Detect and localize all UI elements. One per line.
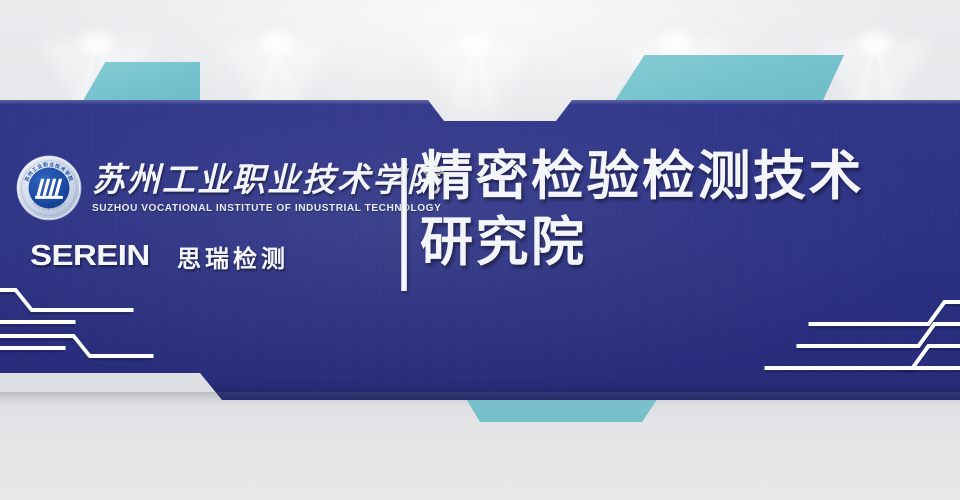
institute-title-line-2: 研究院 [420, 210, 950, 276]
university-emblem-icon: 苏州工业职业技术学院 SUZHOU INSTITUTE [16, 155, 82, 221]
institute-title-block: 精密检验检测技术 研究院 [420, 144, 950, 276]
partner-brand-cn: 思瑞检测 [177, 239, 289, 274]
partner-brand-row: SEREIN 思瑞检测 [16, 239, 394, 274]
logo-block: 苏州工业职业技术学院 SUZHOU INSTITUTE [16, 155, 394, 274]
vertical-divider [401, 158, 407, 291]
university-name-block: 苏州工业职业技术学院 SUZHOU VOCATIONAL INSTITUTE O… [92, 162, 394, 214]
university-logo-row: 苏州工业职业技术学院 SUZHOU INSTITUTE [16, 155, 394, 221]
partner-brand-latin: SEREIN [30, 240, 150, 273]
teal-accent-top-right [612, 55, 844, 105]
university-name-cn: 苏州工业职业技术学院 [92, 164, 394, 199]
institute-title-line-1: 精密检验检测技术 [420, 144, 950, 210]
signage-board-scene: 苏州工业职业技术学院 SUZHOU INSTITUTE [0, 0, 960, 500]
university-name-en: SUZHOU VOCATIONAL INSTITUTE OF INDUSTRIA… [92, 203, 394, 214]
panel-content: 苏州工业职业技术学院 SUZHOU INSTITUTE [0, 100, 960, 402]
